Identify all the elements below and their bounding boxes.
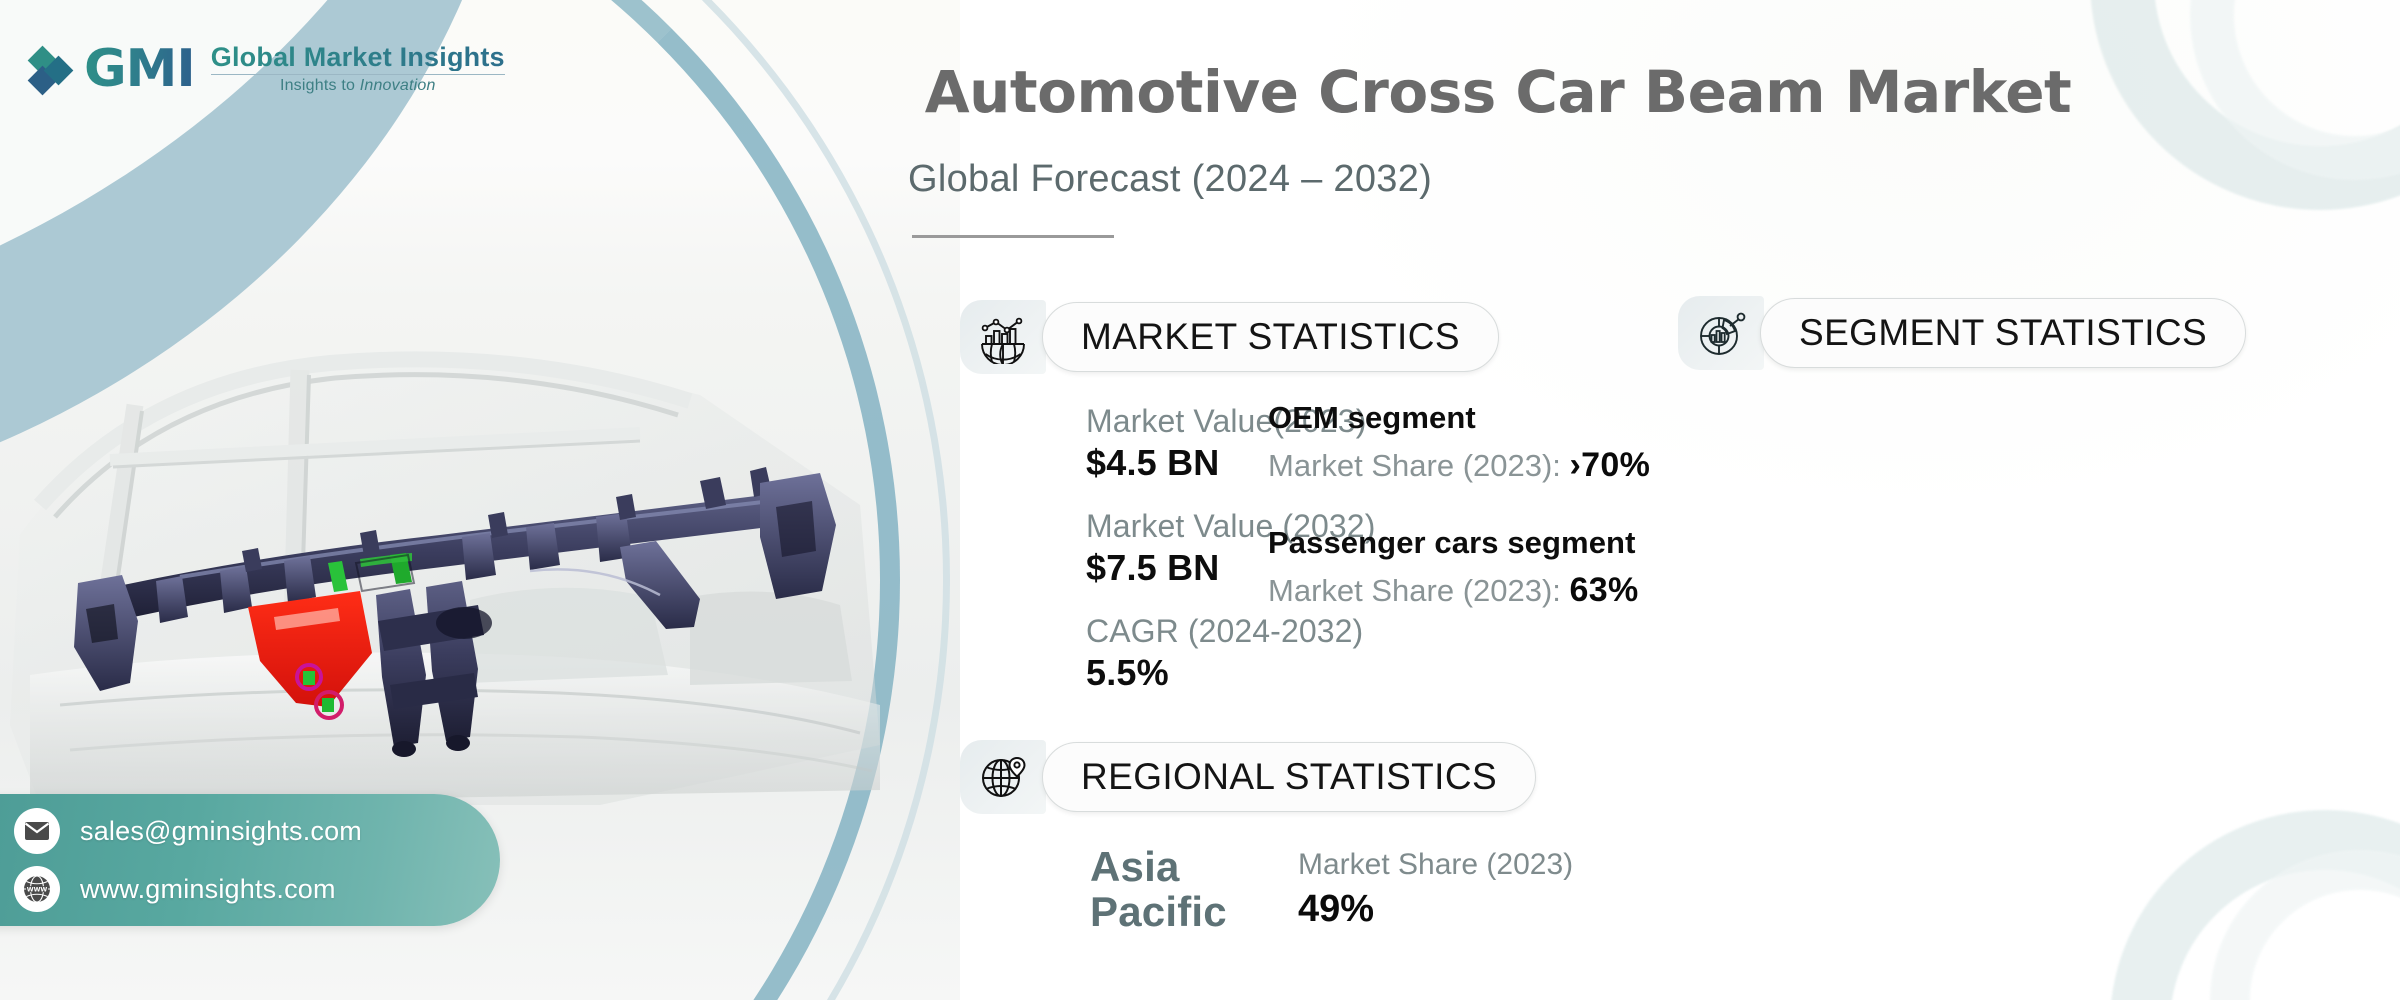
gmi-diamond-mark-icon <box>30 40 72 98</box>
segment-item-0-share: Market Share (2023): ›70% <box>1268 446 1650 485</box>
segment-item-1: Passenger cars segment Market Share (202… <box>1268 525 1650 610</box>
segment-item-0-share-label: Market Share (2023): <box>1268 448 1570 483</box>
gmi-tagline: Insights to Innovation <box>211 77 505 95</box>
regional-region-line1: Asia <box>1090 845 1227 890</box>
tagline-italic: Innovation <box>360 77 436 94</box>
regional-share-value: 49% <box>1298 888 1573 931</box>
market-row-2: CAGR (2024-2032) 5.5% <box>1086 612 1375 695</box>
segment-statistics-badge[interactable]: SEGMENT STATISTICS <box>1678 296 2246 370</box>
regional-share-label: Market Share (2023) <box>1298 848 1573 882</box>
segment-statistics-pill[interactable]: SEGMENT STATISTICS <box>1760 298 2246 368</box>
regional-region-name: Asia Pacific <box>1090 845 1227 934</box>
contact-panel: sales@gminsights.com WWW <box>0 794 500 926</box>
market-row-2-value: 5.5% <box>1086 651 1375 695</box>
segment-statistics-items: OEM segment Market Share (2023): ›70% Pa… <box>1268 400 1650 610</box>
market-row-2-label: CAGR (2024-2032) <box>1086 612 1375 651</box>
segment-item-0-share-value: ›70% <box>1570 446 1651 484</box>
market-statistics-label: MARKET STATISTICS <box>1081 316 1460 358</box>
globe-bar-chart-glyph <box>976 310 1030 364</box>
segment-item-0: OEM segment Market Share (2023): ›70% <box>1268 400 1650 485</box>
regional-region-line2: Pacific <box>1090 890 1227 935</box>
page-title: Automotive Cross Car Beam Market <box>908 58 2088 126</box>
market-statistics-pill[interactable]: MARKET STATISTICS <box>1042 302 1499 372</box>
www-globe-glyph: WWW <box>22 874 52 904</box>
product-image-panel: sales@gminsights.com WWW <box>0 0 960 1000</box>
gmi-wordmark: GMI <box>84 43 195 95</box>
contact-email: sales@gminsights.com <box>80 816 362 847</box>
www-globe-icon: WWW <box>14 866 60 912</box>
cross-car-beam-part <box>60 385 840 765</box>
envelope-glyph <box>24 821 50 841</box>
tagline-plain: Insights to <box>280 77 360 94</box>
gmi-company-name: Global Market Insights <box>211 43 505 71</box>
segment-item-0-name: OEM segment <box>1268 400 1650 436</box>
infographic-canvas: sales@gminsights.com WWW <box>0 0 2400 1000</box>
globe-pin-glyph <box>977 751 1029 803</box>
subtitle-underline <box>912 235 1114 238</box>
gmi-logo[interactable]: GMI Global Market Insights Insights to I… <box>30 40 505 98</box>
gmi-name-block: Global Market Insights Insights to Innov… <box>211 43 505 95</box>
market-statistics-badge[interactable]: MARKET STATISTICS <box>960 300 1499 374</box>
contact-website-row[interactable]: WWW www.gminsights.com <box>14 866 500 912</box>
regional-statistics-badge[interactable]: REGIONAL STATISTICS <box>960 740 1536 814</box>
cross-car-beam-photo <box>0 205 900 840</box>
contact-website: www.gminsights.com <box>80 874 336 905</box>
regional-statistics-pill[interactable]: REGIONAL STATISTICS <box>1042 742 1536 812</box>
globe-pin-icon <box>960 740 1046 814</box>
segment-item-1-name: Passenger cars segment <box>1268 525 1650 561</box>
donut-chart-glyph <box>1694 306 1748 360</box>
contact-email-row[interactable]: sales@gminsights.com <box>14 808 500 854</box>
globe-bar-chart-icon <box>960 300 1046 374</box>
segment-statistics-label: SEGMENT STATISTICS <box>1799 312 2207 354</box>
content-area: Automotive Cross Car Beam Market Global … <box>900 0 2400 1000</box>
segment-item-1-share: Market Share (2023): 63% <box>1268 571 1650 610</box>
envelope-icon <box>14 808 60 854</box>
svg-text:WWW: WWW <box>27 886 48 893</box>
donut-chart-icon <box>1678 296 1764 370</box>
segment-item-1-share-value: 63% <box>1570 571 1639 609</box>
regional-share-block: Market Share (2023) 49% <box>1298 848 1573 931</box>
regional-statistics-label: REGIONAL STATISTICS <box>1081 756 1497 798</box>
segment-item-1-share-label: Market Share (2023): <box>1268 573 1570 608</box>
logo-divider <box>211 74 505 75</box>
page-subtitle: Global Forecast (2024 – 2032) <box>908 158 1432 201</box>
